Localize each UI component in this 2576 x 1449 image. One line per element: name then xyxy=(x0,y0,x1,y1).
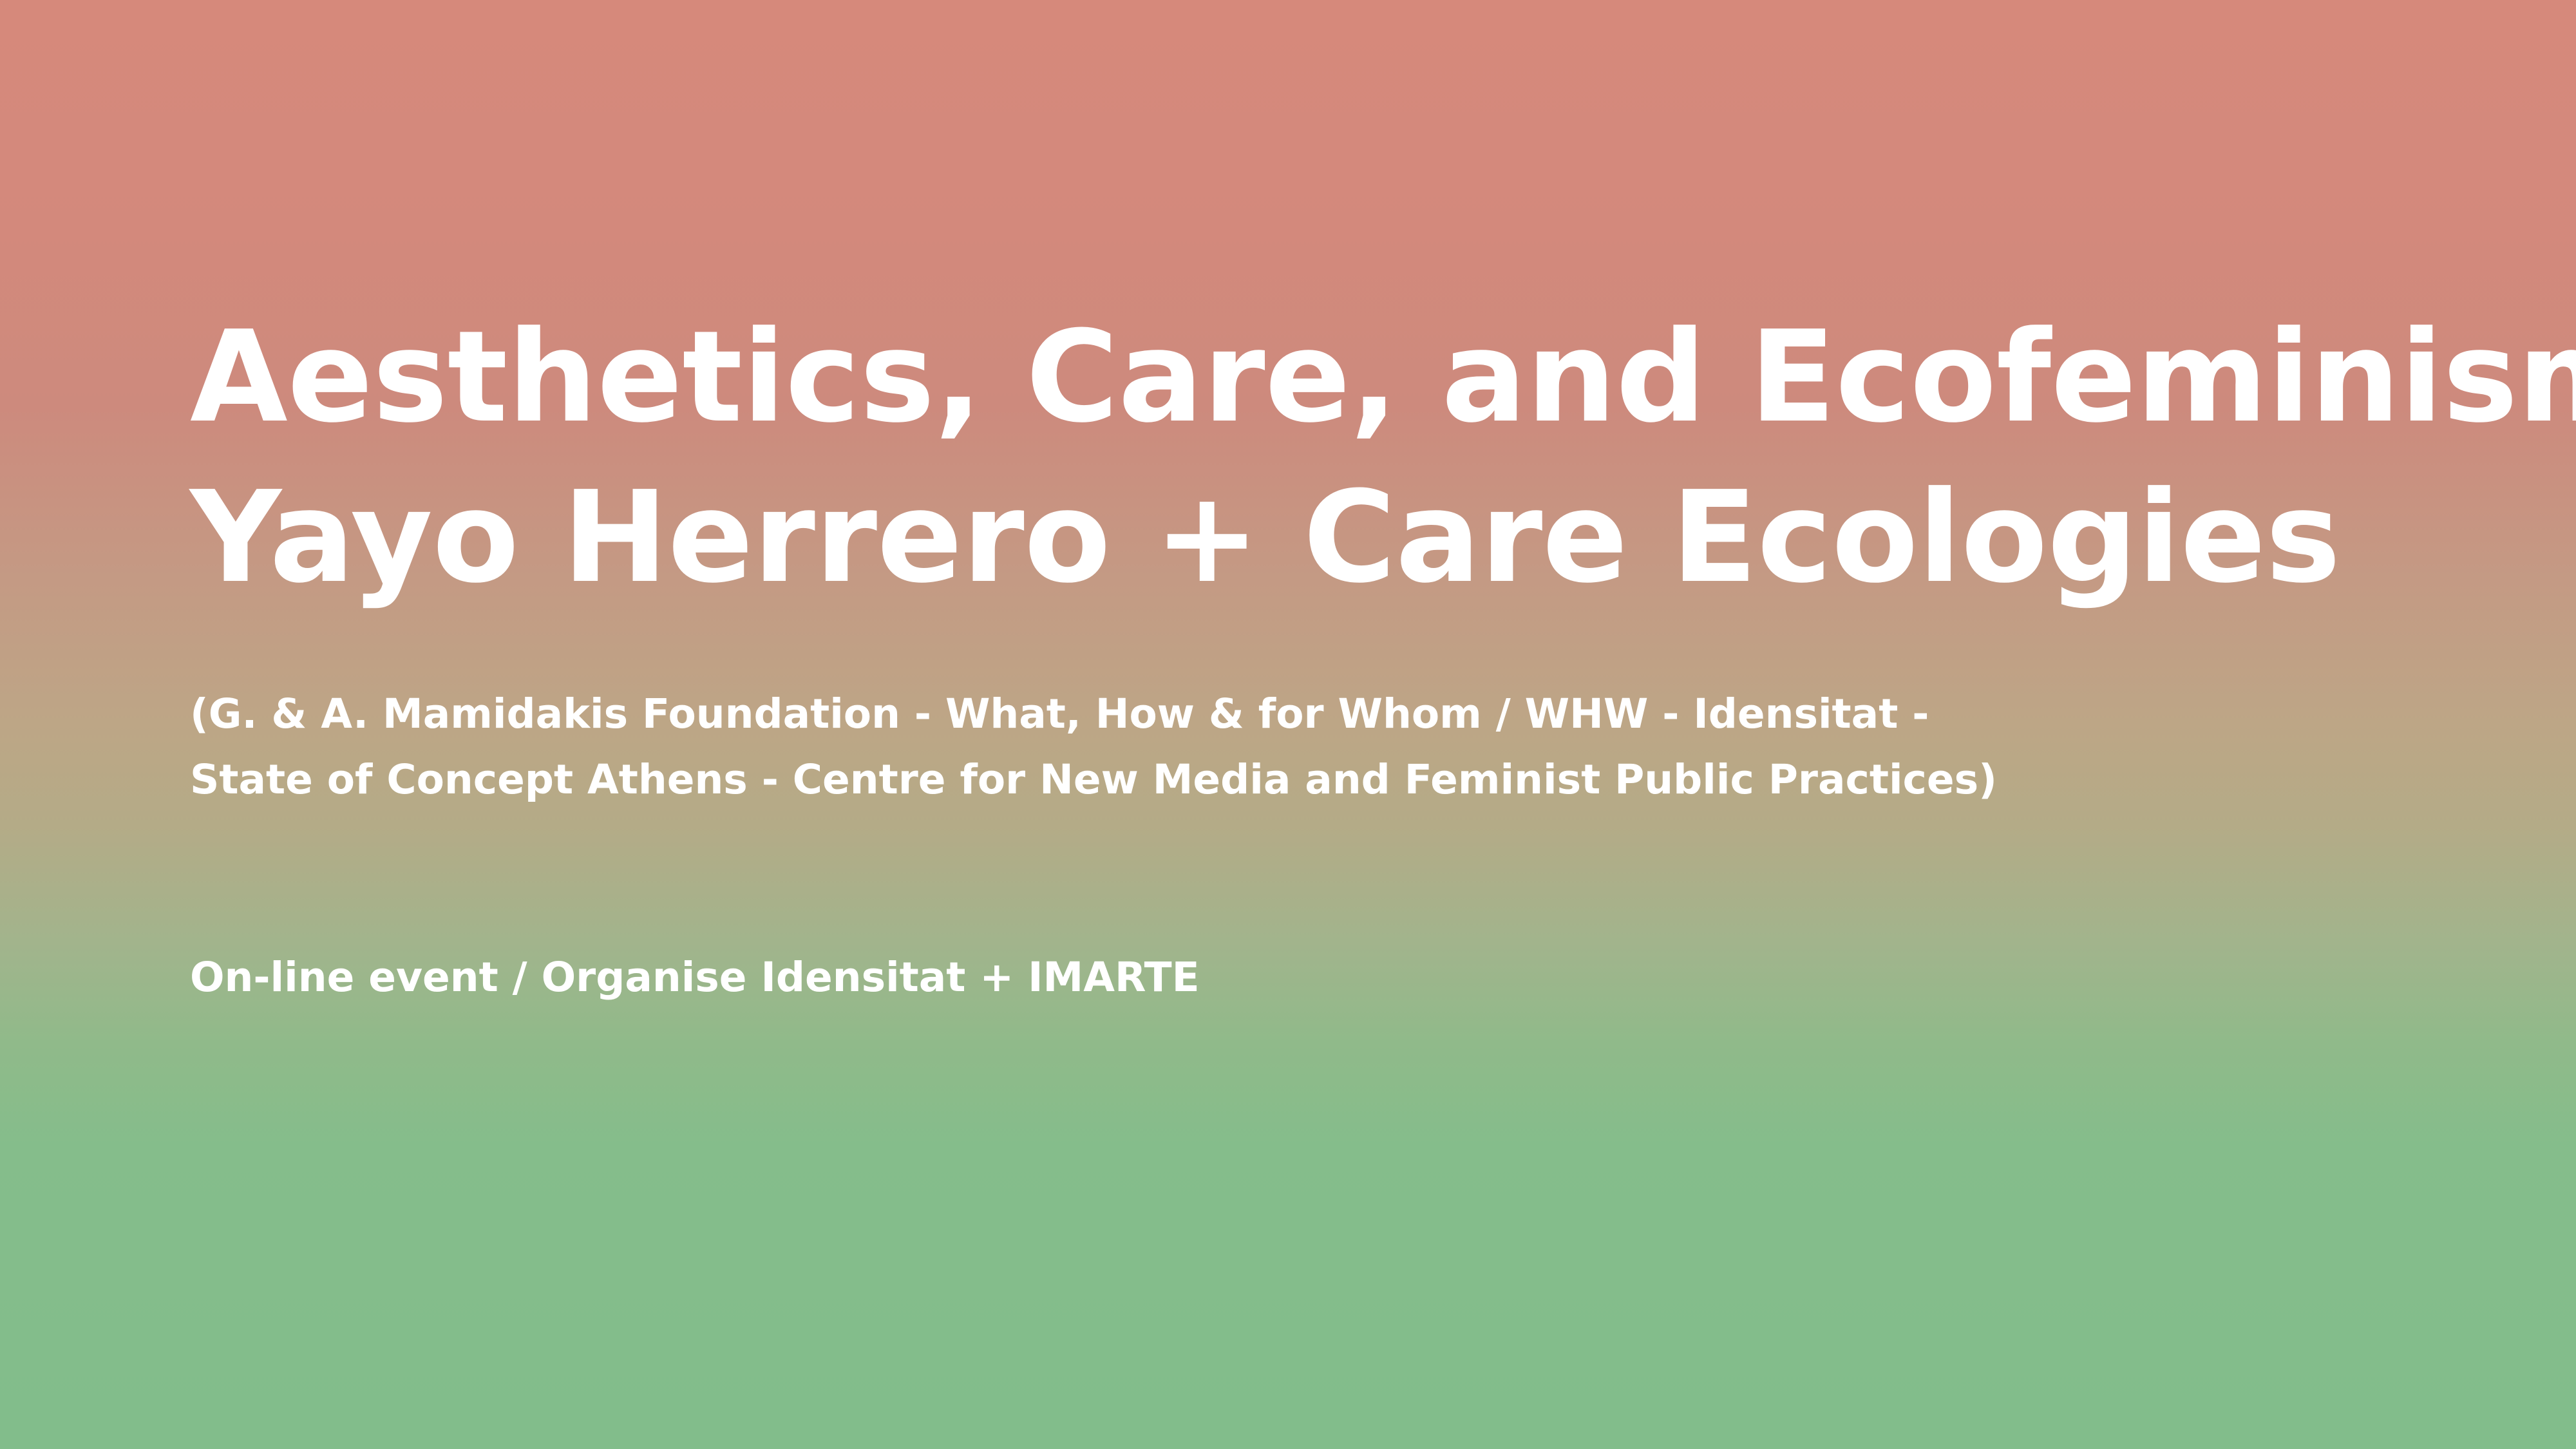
event-details: On-line event / Organise Idensitat + IMA… xyxy=(190,948,2431,1007)
title-line-2: Yayo Herrero + Care Ecologies xyxy=(190,458,2431,618)
poster-content: Aesthetics, Care, and Ecofeminism Yayo H… xyxy=(190,0,2431,1449)
subtitle-line-1: (G. & A. Mamidakis Foundation - What, Ho… xyxy=(190,681,2457,747)
event-poster: Aesthetics, Care, and Ecofeminism Yayo H… xyxy=(0,0,2576,1449)
subtitle-line-2: State of Concept Athens - Centre for New… xyxy=(190,747,2457,813)
page-title: Aesthetics, Care, and Ecofeminism Yayo H… xyxy=(190,298,2431,618)
event-format-and-organisers: On-line event / Organise Idensitat + IMA… xyxy=(190,948,2431,1007)
page-subtitle: (G. & A. Mamidakis Foundation - What, Ho… xyxy=(190,681,2457,813)
title-line-1: Aesthetics, Care, and Ecofeminism xyxy=(190,298,2431,458)
